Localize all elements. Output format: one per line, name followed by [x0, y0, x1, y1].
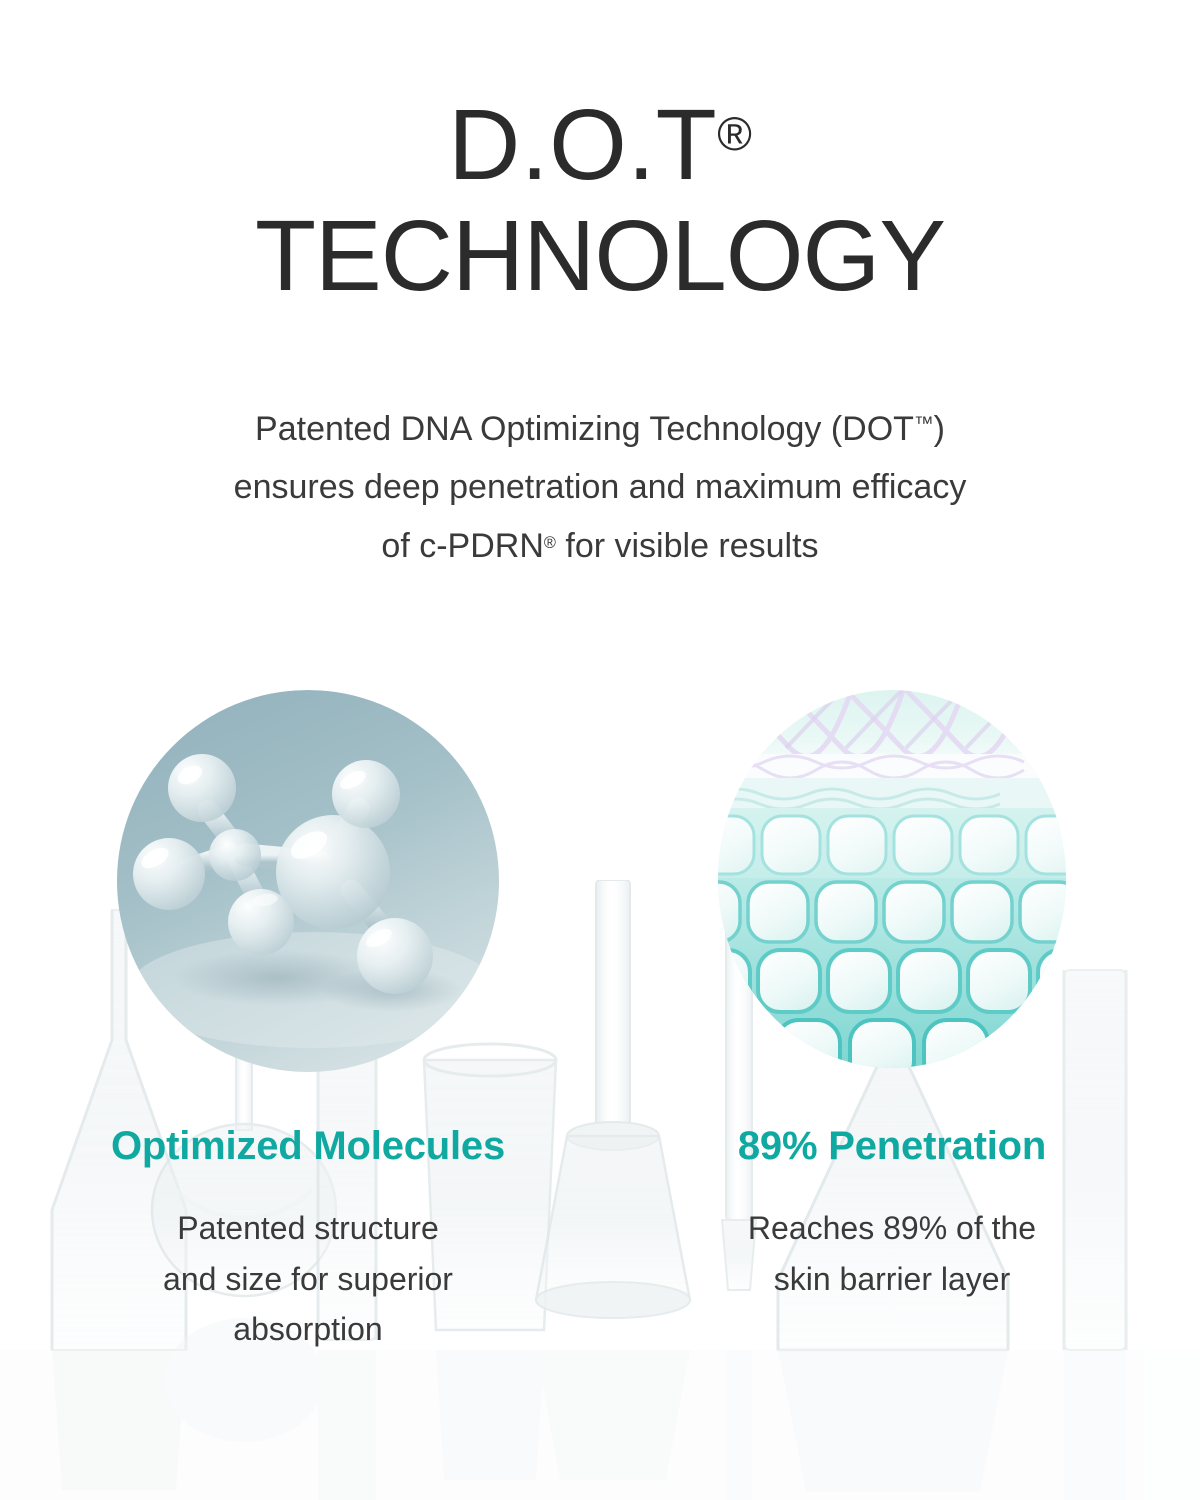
page-title-text: D.O.T — [448, 89, 717, 201]
feature-description-optimized-molecules: Patented structure and size for superior… — [163, 1203, 453, 1355]
subtitle-line-2: ensures deep penetration and maximum eff… — [100, 458, 1100, 516]
subtitle-line-1-text: Patented DNA Optimizing Technology (DOT — [255, 410, 914, 448]
subtitle: Patented DNA Optimizing Technology (DOT™… — [100, 400, 1100, 575]
registered-trademark-icon: ® — [717, 107, 752, 160]
feature-description-penetration: Reaches 89% of the skin barrier layer — [748, 1203, 1036, 1304]
heading-block: D.O.T® TECHNOLOGY — [0, 0, 1200, 312]
subtitle-line-3: of c-PDRN® for visible results — [100, 517, 1100, 575]
desc-line: Patented structure — [177, 1210, 438, 1246]
subtitle-line-1-close: ) — [934, 410, 945, 448]
desc-line: and size for superior — [163, 1261, 453, 1297]
feature-title-optimized-molecules: Optimized Molecules — [111, 1124, 505, 1169]
desc-line: skin barrier layer — [774, 1261, 1011, 1297]
feature-columns: Optimized Molecules Patented structure a… — [0, 690, 1200, 1355]
desc-line: absorption — [233, 1311, 382, 1347]
page-title-line-2: TECHNOLOGY — [0, 198, 1200, 312]
trademark-icon: ™ — [914, 413, 934, 435]
subtitle-line-3-text: of c-PDRN — [381, 527, 543, 565]
registered-trademark-small-icon: ® — [544, 534, 556, 552]
feature-penetration: 89% Penetration Reaches 89% of the skin … — [600, 690, 1172, 1304]
desc-line: Reaches 89% of the — [748, 1210, 1036, 1246]
molecule-model-photo — [113, 690, 503, 1072]
dot-technology-infographic: D.O.T® TECHNOLOGY Patented DNA Optimizin… — [0, 0, 1200, 1500]
feature-title-penetration: 89% Penetration — [738, 1124, 1046, 1169]
feature-optimized-molecules: Optimized Molecules Patented structure a… — [28, 690, 600, 1355]
subtitle-line-1: Patented DNA Optimizing Technology (DOT™… — [100, 400, 1100, 458]
subtitle-line-3-tail: for visible results — [556, 527, 819, 565]
page-title-line-1: D.O.T® — [0, 0, 1200, 198]
skin-barrier-lattice-photo — [718, 690, 1066, 1068]
